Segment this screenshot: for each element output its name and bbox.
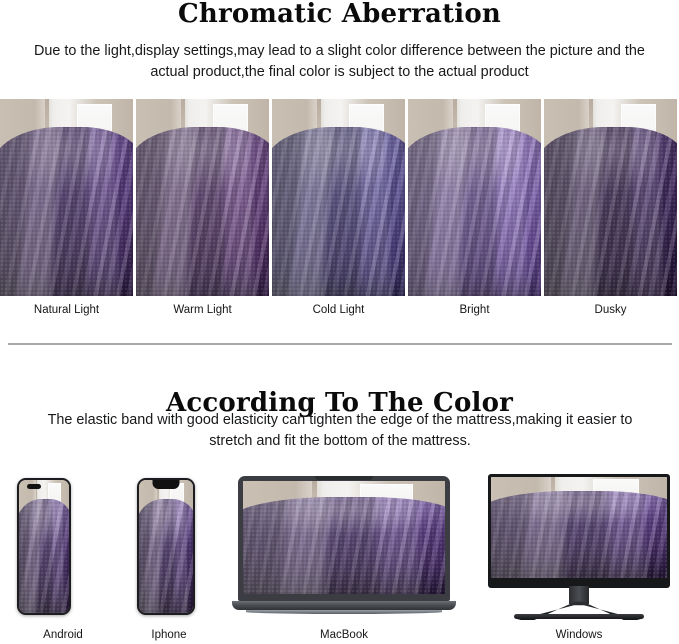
photo-purple-blanket (243, 497, 445, 594)
android-phone-body (17, 478, 71, 615)
thumbnail-dusky[interactable] (544, 99, 677, 296)
thumbnail-caption-row: Natural Light Warm Light Cold Light Brig… (0, 304, 679, 316)
device-caption-row: Android Iphone MacBook Windows (0, 629, 679, 644)
photo-purple-blanket (544, 127, 677, 296)
section-divider (8, 343, 672, 345)
device-mockup-android[interactable] (17, 478, 71, 615)
macbook-screen (243, 481, 445, 594)
device-mockup-macbook[interactable] (232, 476, 456, 618)
iphone-screen (139, 480, 193, 613)
product-photo-natural-light (0, 99, 133, 296)
caption-iphone: Iphone (106, 629, 232, 641)
thumbnail-warm-light[interactable] (136, 99, 269, 296)
product-photo-bright (408, 99, 541, 296)
thumbnail-natural-light[interactable] (0, 99, 133, 296)
caption-natural-light: Natural Light (0, 304, 133, 316)
section-description-chromatic-aberration: Due to the light,display settings,may le… (30, 27, 650, 83)
caption-bright: Bright (408, 304, 541, 316)
device-mockup-iphone[interactable] (137, 478, 195, 615)
product-photo-cold-light (272, 99, 405, 296)
caption-dusky: Dusky (544, 304, 677, 316)
photo-purple-blanket (19, 499, 69, 613)
caption-cold-light: Cold Light (272, 304, 405, 316)
thumbnail-cold-light[interactable] (272, 99, 405, 296)
macbook-foot (246, 610, 442, 614)
photo-purple-blanket (408, 127, 541, 296)
device-mockup-windows[interactable] (488, 474, 670, 620)
iphone-phone-body (137, 478, 195, 615)
product-photo-dusky (544, 99, 677, 296)
caption-macbook: MacBook (281, 629, 407, 641)
caption-warm-light: Warm Light (136, 304, 269, 316)
android-screen (19, 480, 69, 613)
photo-purple-blanket (491, 491, 667, 578)
product-photo-warm-light (136, 99, 269, 296)
device-mockup-row (0, 470, 679, 620)
thumbnail-bright[interactable] (408, 99, 541, 296)
section-title-chromatic-aberration: Chromatic Aberration (0, 0, 679, 27)
monitor-screen (491, 477, 667, 578)
photo-purple-blanket (272, 127, 405, 296)
photo-purple-blanket (139, 499, 193, 613)
macbook-base (232, 601, 456, 610)
android-camera-punch-hole-icon (27, 484, 41, 489)
photo-purple-blanket (0, 127, 133, 296)
photo-purple-blanket (136, 127, 269, 296)
macbook-camera-bar-icon (315, 476, 373, 480)
color-variant-thumbnail-strip (0, 99, 679, 296)
iphone-notch-icon (153, 480, 180, 489)
caption-windows: Windows (516, 629, 642, 641)
macbook-lid (238, 476, 450, 601)
section-description-according-to-the-color: The elastic band with good elasticity ca… (30, 410, 650, 452)
monitor-stand-base (514, 614, 644, 619)
monitor-frame (488, 474, 670, 588)
monitor-neck (569, 586, 589, 604)
